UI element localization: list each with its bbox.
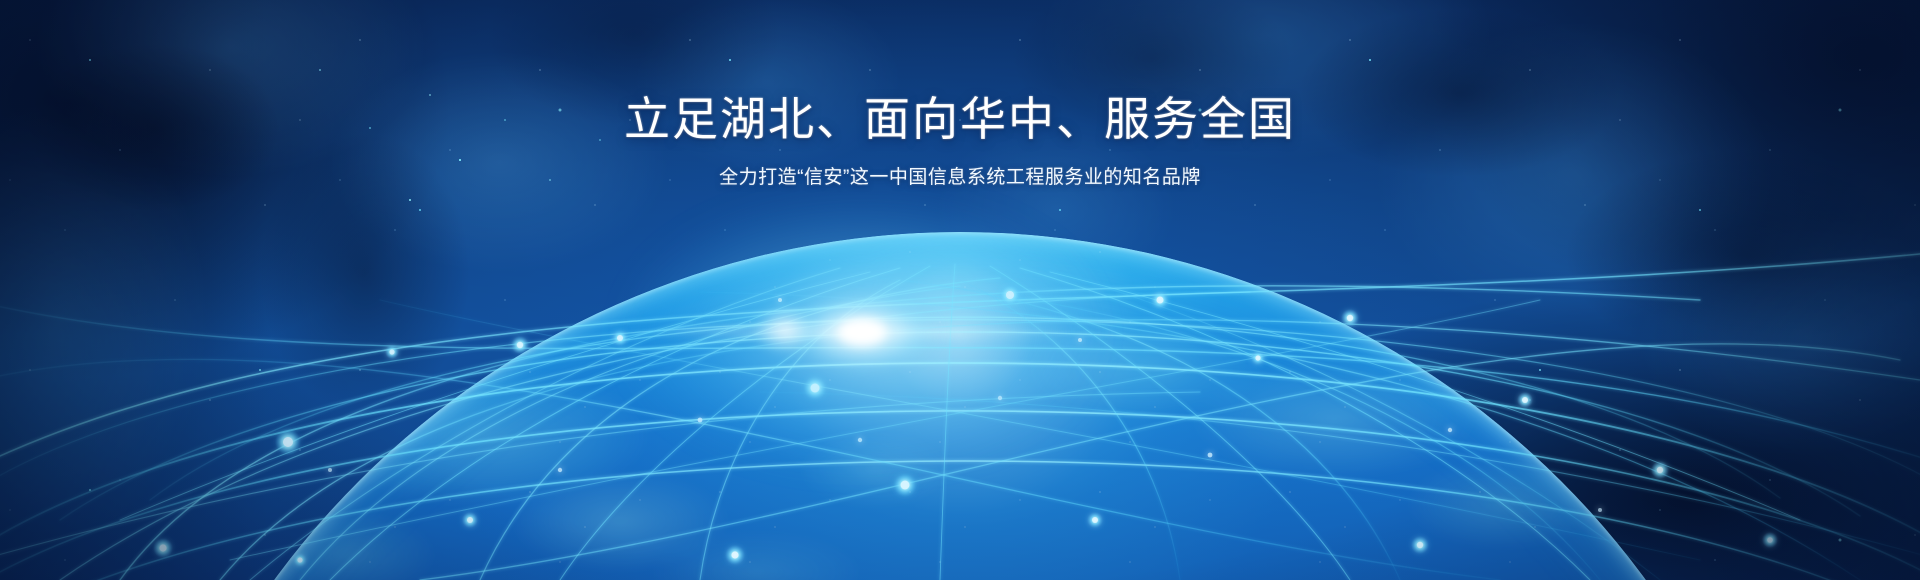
banner-copy: 立足湖北、面向华中、服务全国 全力打造“信安”这一中国信息系统工程服务业的知名品… bbox=[0, 96, 1920, 187]
banner-headline: 立足湖北、面向华中、服务全国 bbox=[0, 96, 1920, 142]
banner-subheadline: 全力打造“信安”这一中国信息系统工程服务业的知名品牌 bbox=[0, 168, 1920, 187]
hero-banner: 立足湖北、面向华中、服务全国 全力打造“信安”这一中国信息系统工程服务业的知名品… bbox=[0, 0, 1920, 580]
